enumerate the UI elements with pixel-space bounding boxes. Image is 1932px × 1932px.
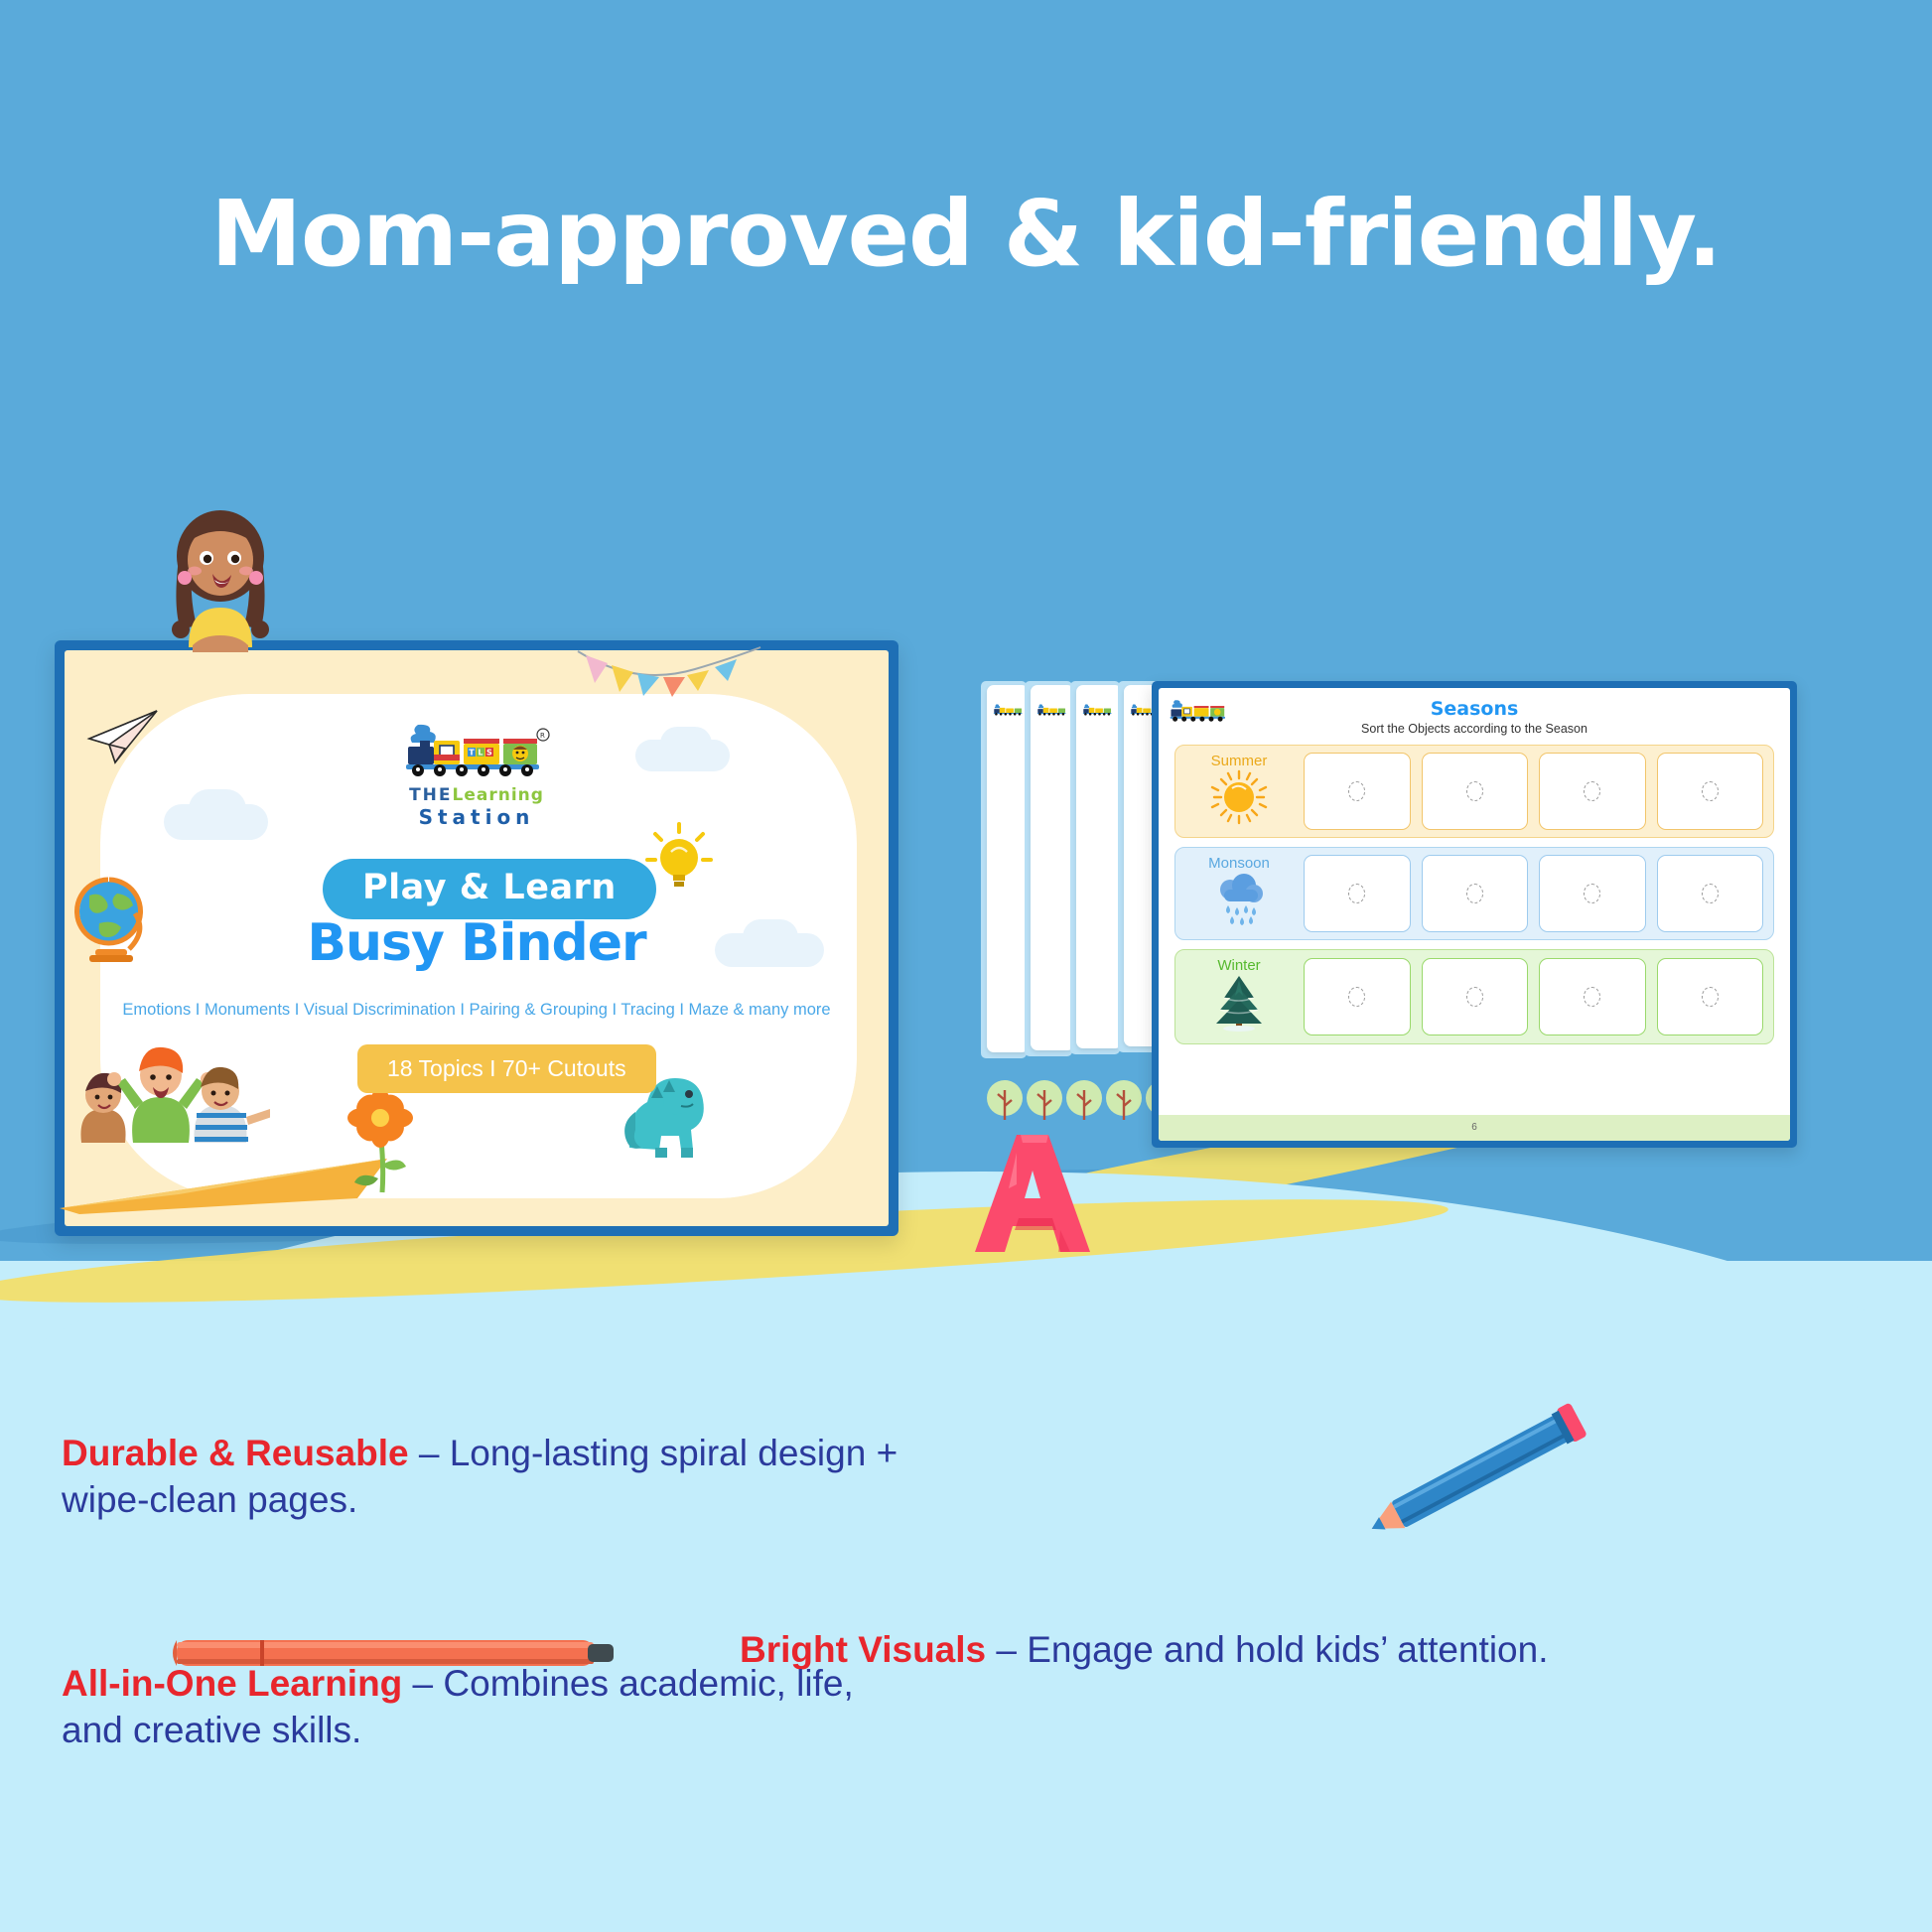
drop-cell[interactable] <box>1422 855 1529 932</box>
circle-marker <box>1348 987 1365 1007</box>
svg-text:T: T <box>469 748 475 757</box>
feature-dash: – <box>402 1663 443 1704</box>
drop-cell[interactable] <box>1304 958 1411 1035</box>
worksheet-row-monsoon: Monsoon <box>1174 847 1774 940</box>
mini-train-logo-icon <box>993 699 1025 721</box>
mini-train-logo-icon <box>1082 699 1114 721</box>
circle-marker <box>1584 781 1600 801</box>
feature-bright-visuals: Bright Visuals – Engage and hold kids’ a… <box>740 1626 1891 1673</box>
kids-illustration <box>62 1018 270 1147</box>
circle-marker <box>1466 987 1483 1007</box>
cover-topics-line: Emotions I Monuments I Visual Discrimina… <box>0 1001 953 1020</box>
drop-cell[interactable] <box>1657 753 1764 830</box>
circle-marker <box>1702 781 1719 801</box>
sun-icon <box>1208 769 1270 825</box>
worksheet-train-logo-icon <box>1169 696 1230 726</box>
circle-marker <box>1348 781 1365 801</box>
girl-illustration <box>159 508 283 652</box>
feature-dash: – <box>986 1629 1027 1670</box>
feature-lead: All-in-One Learning <box>62 1663 402 1704</box>
row-header-summer: Summer <box>1185 753 1293 830</box>
circle-marker <box>1466 781 1483 801</box>
worksheet-row-summer: Summer <box>1174 745 1774 838</box>
brand-logo: T L S R THELearning Station <box>0 719 953 829</box>
worksheet-sheet[interactable] <box>1031 685 1074 1050</box>
pine-tree-icon <box>1208 974 1270 1032</box>
pencil-icon <box>1340 1390 1608 1559</box>
svg-text:S: S <box>486 748 492 757</box>
letter-a-icon <box>973 1127 1092 1261</box>
play-and-learn-pill: Play & Learn <box>323 859 656 919</box>
worksheet-row-winter: Winter <box>1174 949 1774 1044</box>
worksheet-title: Seasons <box>1159 698 1790 720</box>
row-label: Summer <box>1185 753 1293 769</box>
row-header-monsoon: Monsoon <box>1185 855 1293 932</box>
drop-cell[interactable] <box>1539 855 1646 932</box>
cover-topics-badge: 18 Topics I 70+ Cutouts <box>357 1044 656 1093</box>
svg-text:L: L <box>478 748 483 757</box>
rain-cloud-icon <box>1208 872 1270 927</box>
row-header-winter: Winter <box>1185 957 1293 1036</box>
drop-cell[interactable] <box>1422 958 1529 1035</box>
drop-cell[interactable] <box>1304 855 1411 932</box>
circle-marker <box>1348 884 1365 903</box>
flower-icon <box>343 1087 420 1196</box>
brand-station: Station <box>0 805 953 829</box>
feature-lead: Durable & Reusable <box>62 1433 409 1473</box>
worksheet-page-number: 6 <box>1159 1122 1790 1133</box>
page-title: Mom-approved & kid-friendly. <box>0 181 1932 287</box>
brand-learning: Learning <box>453 785 544 805</box>
mini-train-logo-icon <box>1036 699 1068 721</box>
svg-text:R: R <box>540 732 545 740</box>
drop-cell[interactable] <box>1539 753 1646 830</box>
drop-cell[interactable] <box>1422 753 1529 830</box>
drop-cell[interactable] <box>1539 958 1646 1035</box>
brand-line-1: THELearning <box>0 785 953 805</box>
circle-marker <box>1466 884 1483 903</box>
circle-marker <box>1702 987 1719 1007</box>
feature-dash: – <box>409 1433 450 1473</box>
worksheet-page: Seasons Sort the Objects according to th… <box>1159 688 1790 1141</box>
train-logo-icon: T L S R <box>402 719 551 782</box>
drop-cell[interactable] <box>1657 855 1764 932</box>
worksheet-subtitle: Sort the Objects according to the Season <box>1159 722 1790 736</box>
feature-all-in-one-learning: All-in-One Learning – Combines academic,… <box>62 1660 876 1754</box>
drop-cell[interactable] <box>1657 958 1764 1035</box>
cover-title: Busy Binder <box>0 913 953 973</box>
seasons-worksheet[interactable]: Seasons Sort the Objects according to th… <box>1152 681 1797 1148</box>
brand-the: THE <box>409 785 452 805</box>
worksheet-sheet[interactable] <box>987 685 1029 1052</box>
feature-durable-reusable: Durable & Reusable – Long-lasting spiral… <box>62 1430 915 1524</box>
worksheet-sheet[interactable] <box>1076 685 1122 1048</box>
row-label: Winter <box>1185 957 1293 974</box>
circle-marker <box>1584 884 1600 903</box>
circle-marker <box>1584 987 1600 1007</box>
drop-cell[interactable] <box>1304 753 1411 830</box>
feature-body: Engage and hold kids’ attention. <box>1027 1629 1548 1670</box>
row-label: Monsoon <box>1185 855 1293 872</box>
circle-marker <box>1702 884 1719 903</box>
